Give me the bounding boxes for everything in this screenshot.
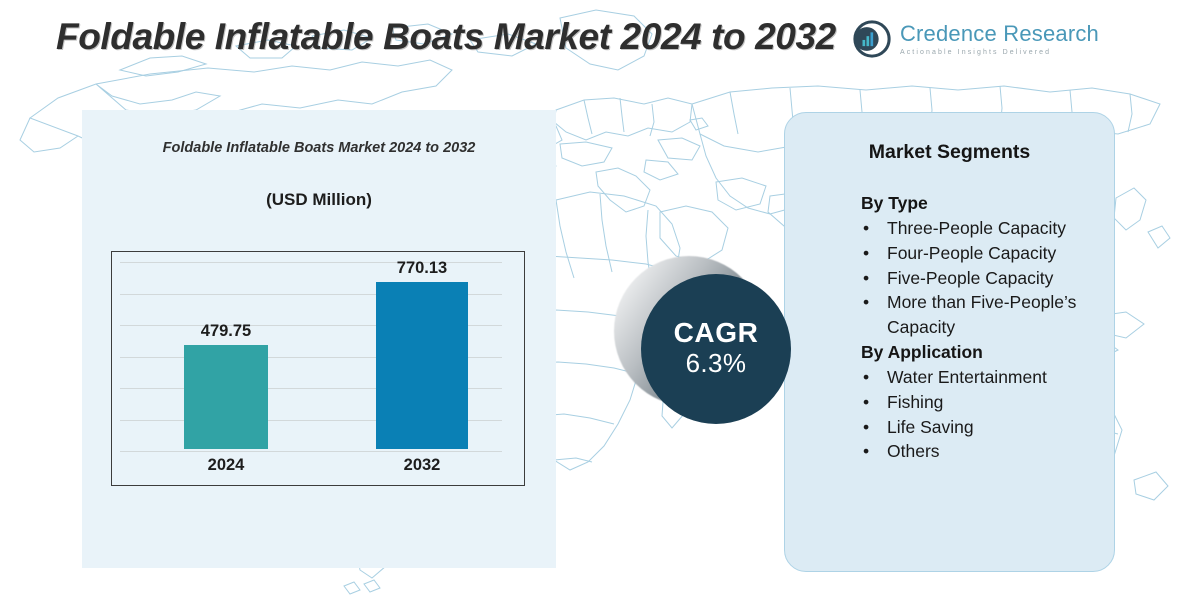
segment-item-label: Four-People Capacity: [887, 243, 1056, 263]
bullet-icon: •: [863, 390, 869, 415]
segment-item-label: More than Five-People’s Capacity: [887, 292, 1076, 337]
segment-item-label: Water Entertainment: [887, 367, 1047, 387]
bar-rect: [184, 345, 268, 449]
segment-item-label: Life Saving: [887, 417, 974, 437]
bar-category-label: 2024: [208, 456, 245, 475]
bullet-icon: •: [863, 439, 869, 464]
bar-chart-plot-area: 479.752024770.132032: [111, 251, 525, 486]
bullet-icon: •: [863, 216, 869, 241]
segment-list-item[interactable]: •Three-People Capacity: [861, 216, 1102, 241]
bullet-icon: •: [863, 266, 869, 291]
segment-list: •Three-People Capacity•Four-People Capac…: [861, 216, 1102, 340]
segment-list-item[interactable]: •Four-People Capacity: [861, 241, 1102, 266]
bar-column: 479.752024: [184, 345, 268, 449]
bullet-icon: •: [863, 290, 869, 315]
credence-bar-chart-circle-icon: [853, 20, 891, 58]
bar-category-label: 2032: [404, 456, 441, 475]
bullet-icon: •: [863, 415, 869, 440]
brand-name: Credence Research: [900, 23, 1099, 45]
market-segments-title: Market Segments: [785, 141, 1114, 164]
segment-item-label: Fishing: [887, 392, 943, 412]
chart-heading: Foldable Inflatable Boats Market 2024 to…: [82, 140, 556, 156]
market-segments-body: By Type•Three-People Capacity•Four-Peopl…: [861, 191, 1102, 464]
segment-group-title: By Type: [861, 191, 1102, 216]
segment-group-title: By Application: [861, 340, 1102, 365]
brand-tagline: Actionable Insights Delivered: [900, 49, 1099, 56]
segment-list-item[interactable]: •Water Entertainment: [861, 365, 1102, 390]
segment-item-label: Five-People Capacity: [887, 268, 1053, 288]
cagr-badge: CAGR 6.3%: [614, 256, 796, 424]
segment-list-item[interactable]: •Life Saving: [861, 415, 1102, 440]
page-title: Foldable Inflatable Boats Market 2024 to…: [56, 16, 836, 58]
segment-list-item[interactable]: •Others: [861, 439, 1102, 464]
segment-list-item[interactable]: •Five-People Capacity: [861, 266, 1102, 291]
bullet-icon: •: [863, 241, 869, 266]
cagr-circle: CAGR 6.3%: [641, 274, 791, 424]
bar-column: 770.132032: [376, 282, 468, 449]
segment-item-label: Others: [887, 441, 940, 461]
segment-list-item[interactable]: •Fishing: [861, 390, 1102, 415]
cagr-value: 6.3%: [686, 347, 747, 380]
bar-value-label: 479.75: [201, 322, 251, 341]
bullet-icon: •: [863, 365, 869, 390]
cagr-label: CAGR: [674, 318, 759, 347]
segment-list-item[interactable]: •More than Five-People’s Capacity: [861, 290, 1102, 340]
bar-series: 479.752024770.132032: [112, 260, 524, 449]
infographic-canvas: Foldable Inflatable Boats Market 2024 to…: [0, 0, 1177, 602]
chart-gridline: [120, 451, 502, 452]
bar-value-label: 770.13: [397, 259, 447, 278]
market-segments-panel: Market Segments By Type•Three-People Cap…: [784, 112, 1115, 572]
brand-logo: Credence Research Actionable Insights De…: [853, 20, 1099, 58]
segment-item-label: Three-People Capacity: [887, 218, 1066, 238]
chart-panel: Foldable Inflatable Boats Market 2024 to…: [82, 110, 556, 568]
bar-rect: [376, 282, 468, 449]
chart-units-label: (USD Million): [82, 190, 556, 210]
segment-list: •Water Entertainment•Fishing•Life Saving…: [861, 365, 1102, 464]
